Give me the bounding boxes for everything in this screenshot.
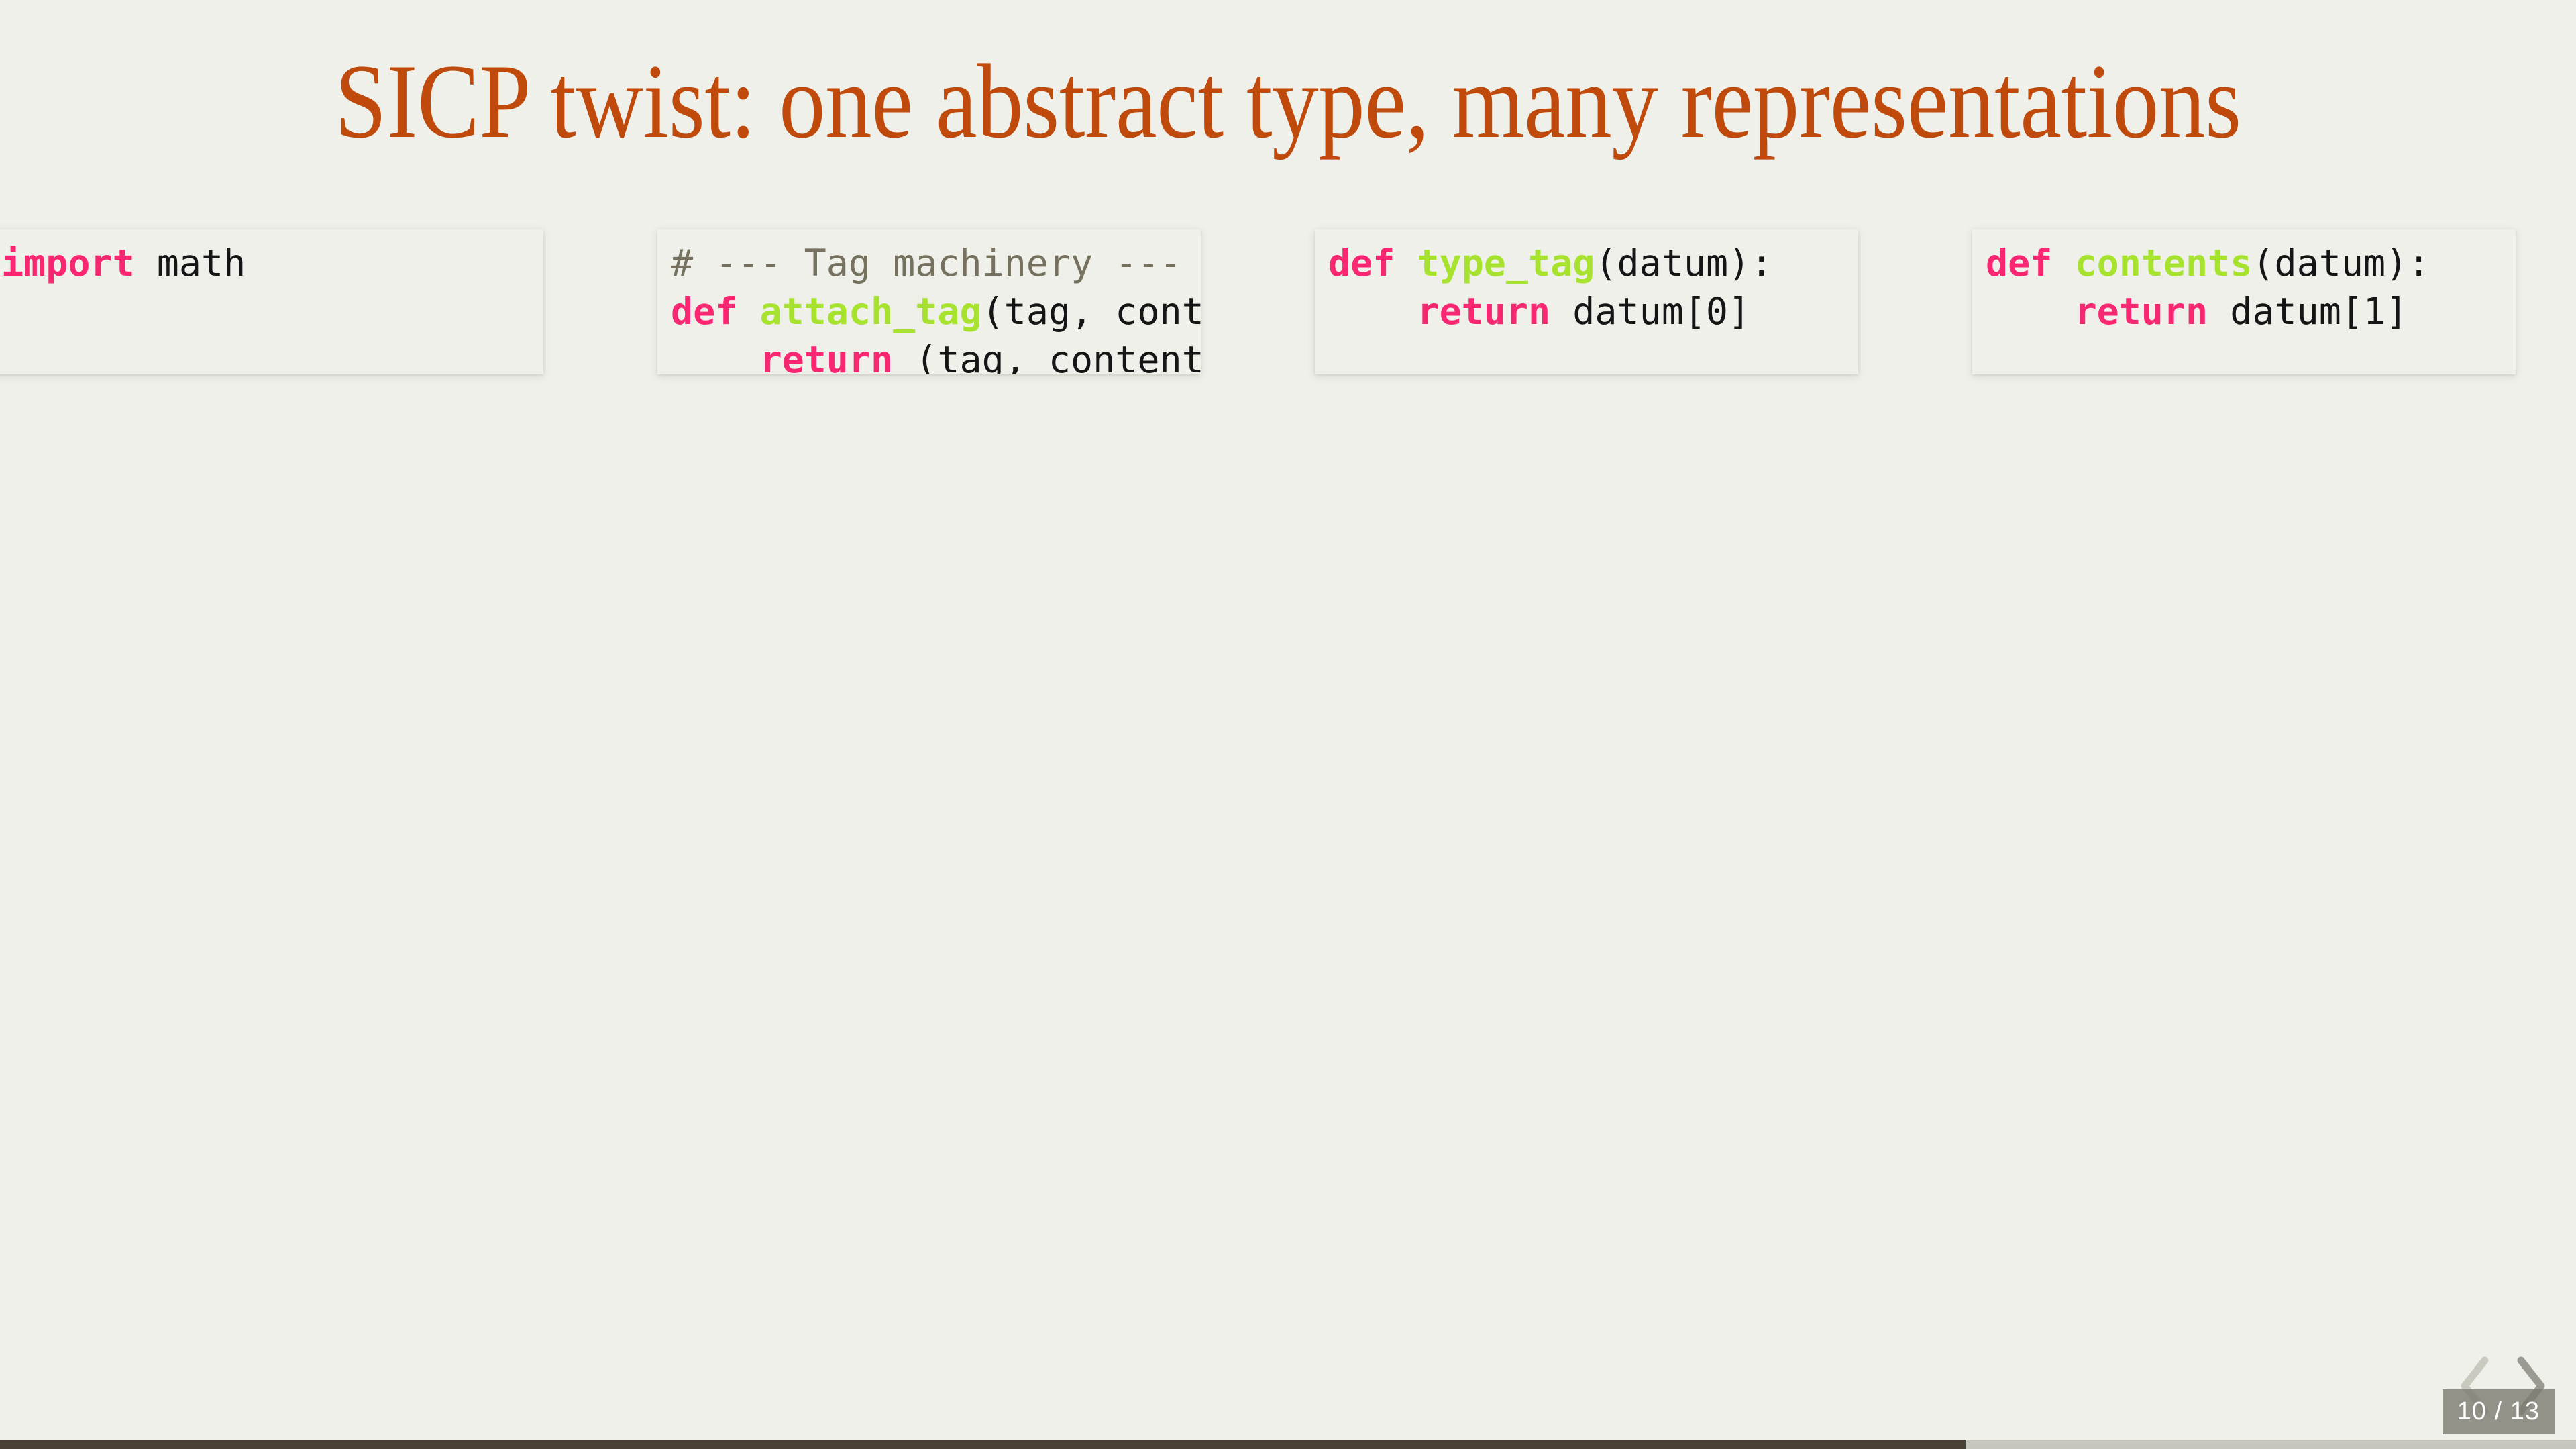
- code-token-plain: [671, 338, 759, 374]
- code-token-function: contents: [2074, 241, 2252, 284]
- code-block-type-tag: def type_tag(datum): return datum[0]: [1315, 229, 1858, 374]
- code-block-contents: def contents(datum): return datum[1]: [1972, 229, 2516, 374]
- code-token-keyword: def: [671, 290, 737, 333]
- code-token-plain: [1328, 290, 1417, 333]
- slide-progress-bar[interactable]: [0, 1440, 2576, 1449]
- slide-counter: 10 / 13: [2443, 1389, 2555, 1434]
- slide-progress-fill: [0, 1440, 1966, 1449]
- slide-title: SICP twist: one abstract type, many repr…: [154, 46, 2421, 158]
- code-token-keyword: def: [1328, 241, 1395, 284]
- code-token-plain: math: [135, 241, 246, 284]
- code-token-keyword: import: [1, 241, 135, 284]
- code-content: # --- Tag machinery --- def attach_tag(t…: [657, 239, 1201, 374]
- code-token-plain: datum[1]: [2208, 290, 2408, 333]
- code-token-function: attach_tag: [759, 290, 981, 333]
- code-token-plain: (tag, contents):: [982, 290, 1201, 333]
- code-content: def type_tag(datum): return datum[0]: [1315, 239, 1858, 335]
- code-content: import math: [0, 239, 543, 287]
- code-token-plain: (datum):: [1595, 241, 1772, 284]
- code-block-row: import math # --- Tag machinery --- def …: [0, 229, 2576, 374]
- code-token-function: type_tag: [1417, 241, 1595, 284]
- code-token-plain: [737, 290, 759, 333]
- code-block-import: import math: [0, 229, 543, 374]
- code-token-keyword: return: [2074, 290, 2208, 333]
- code-token-plain: [2052, 241, 2074, 284]
- code-token-plain: datum[0]: [1550, 290, 1750, 333]
- code-content: def contents(datum): return datum[1]: [1972, 239, 2516, 335]
- code-token-keyword: return: [759, 338, 893, 374]
- code-token-keyword: return: [1417, 290, 1550, 333]
- code-token-plain: (tag, contents): [893, 338, 1201, 374]
- code-token-comment: # --- Tag machinery ---: [671, 241, 1182, 284]
- code-token-plain: (datum):: [2252, 241, 2430, 284]
- code-token-plain: [1395, 241, 1417, 284]
- code-token-plain: [1986, 290, 2074, 333]
- code-block-attach-tag: # --- Tag machinery --- def attach_tag(t…: [657, 229, 1201, 374]
- code-token-keyword: def: [1986, 241, 2052, 284]
- presentation-slide: SICP twist: one abstract type, many repr…: [0, 0, 2576, 1449]
